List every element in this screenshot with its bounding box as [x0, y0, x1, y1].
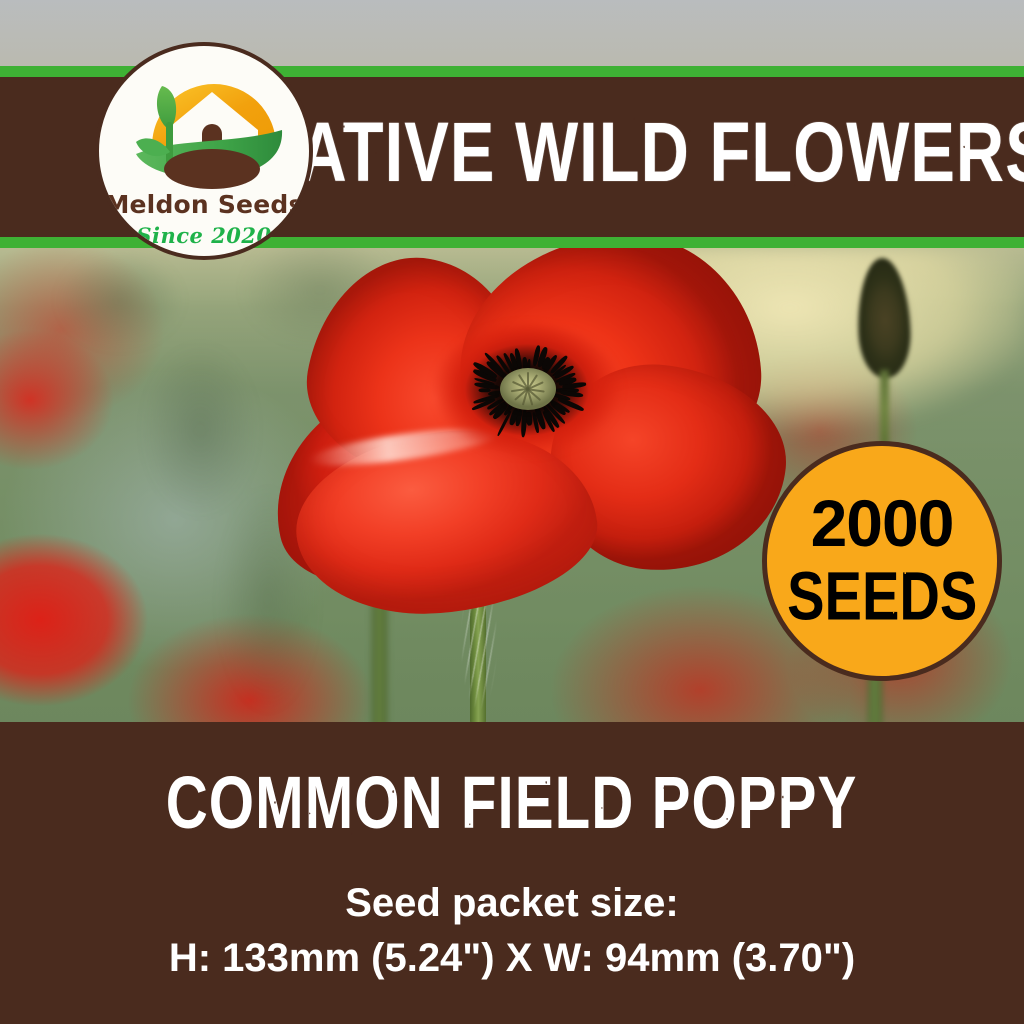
page-title: NATIVE WILD FLOWERS [311, 93, 989, 214]
footer-band: COMMON FIELD POPPY Seed packet size: H: … [0, 722, 1024, 1024]
soil-icon [164, 149, 260, 189]
seed-count-unit-text: SEEDS [787, 562, 977, 631]
packet-size-value: H: 133mm (5.24") X W: 94mm (3.70") [169, 936, 855, 981]
packet-size-label: Seed packet size: [345, 881, 679, 926]
seed-count-value: 2000 [811, 492, 954, 555]
seed-count-badge: 2000 SEEDS [762, 441, 1002, 681]
sprout-stem [166, 122, 173, 164]
brand-logo: Meldon Seeds Since 2020 [95, 42, 313, 260]
brand-name: Meldon Seeds [99, 190, 309, 219]
variety-name: COMMON FIELD POPPY [166, 760, 858, 846]
poppy-seed-capsule [500, 368, 556, 410]
page-title-text: NATIVE WILD FLOWERS [249, 105, 1024, 201]
poppy-flower [250, 236, 790, 656]
logo-mark-icon [126, 68, 290, 190]
variety-name-text: COMMON FIELD POPPY [166, 760, 858, 846]
brand-tagline: Since 2020 [99, 223, 309, 248]
seed-count-unit: SEEDS [787, 562, 977, 631]
poppy-bud [832, 258, 942, 458]
seed-packet-label: NATIVE WILD FLOWERS [0, 0, 1024, 1024]
